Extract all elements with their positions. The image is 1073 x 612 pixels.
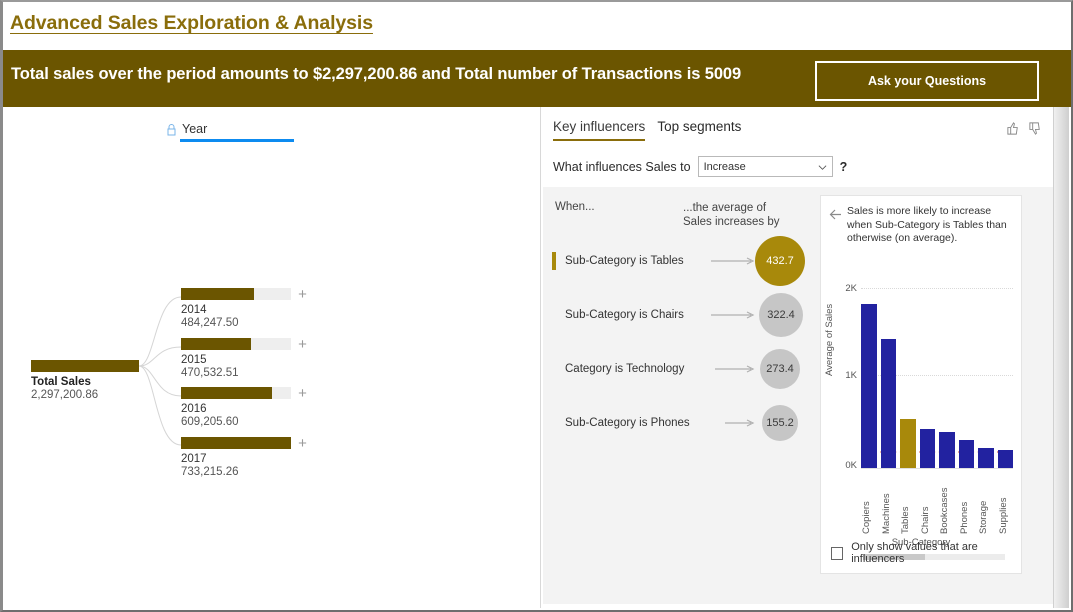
chart-category-labels: CopiersMachinesTablesChairsBookcasesPhon… (861, 470, 1013, 534)
tree-node-bar (181, 387, 291, 399)
tree-node-label: 2014 (181, 304, 291, 317)
ki-direction-select[interactable]: Increase (698, 156, 833, 177)
chart-bar[interactable] (959, 440, 975, 468)
tree-node-value: 733,215.26 (181, 466, 291, 479)
influencer-bubble[interactable]: 432.7 (755, 236, 805, 286)
tree-root-node[interactable]: Total Sales 2,297,200.86 (31, 360, 139, 402)
ki-question-row: What influences Sales to Increase ? (553, 156, 847, 177)
tree-root-value: 2,297,200.86 (31, 389, 139, 402)
influencer-bar-chart: Average of Sales 2K 1K 0K CopiersMachine… (821, 288, 1021, 573)
tree-node-label: 2015 (181, 354, 291, 367)
tree-node-label: 2016 (181, 403, 291, 416)
chart-bar[interactable] (978, 448, 994, 468)
chart-y-tick: 0K (835, 460, 857, 471)
chart-category-label: Machines (881, 470, 897, 534)
tree-node-value: 609,205.60 (181, 416, 291, 429)
tree-node-bar (181, 288, 291, 300)
chart-y-tick: 2K (835, 283, 857, 294)
thumbs-down-icon[interactable] (1028, 121, 1043, 136)
influencer-selected-marker (552, 252, 556, 270)
ki-direction-value: Increase (704, 161, 746, 173)
arrow-right-icon (725, 418, 759, 428)
arrow-right-icon (715, 364, 759, 374)
ask-your-questions-button[interactable]: Ask your Questions (815, 61, 1039, 101)
influencer-label: Sub-Category is Chairs (565, 309, 684, 321)
chart-category-label: Supplies (998, 470, 1014, 534)
tab-key-influencers[interactable]: Key influencers (553, 119, 645, 141)
chart-y-tick: 1K (835, 370, 857, 381)
influencer-label: Sub-Category is Phones (565, 417, 690, 429)
influencer-bubble[interactable]: 273.4 (760, 349, 800, 389)
report-page: Advanced Sales Exploration & Analysis To… (0, 0, 1073, 612)
ki-tab-bar: Key influencers Top segments (553, 119, 741, 141)
chart-bar[interactable] (939, 432, 955, 468)
ki-column-average: ...the average of Sales increases by (683, 201, 793, 229)
tree-node-bar (181, 338, 291, 350)
ki-column-when: When... (555, 201, 595, 213)
chart-bars-group (861, 288, 1013, 468)
chart-category-label: Copiers (861, 470, 877, 534)
tree-expand-button-2015[interactable]: + (296, 339, 309, 352)
tree-node-2015[interactable]: 2015 470,532.51 (181, 338, 291, 380)
only-influencers-checkbox-row[interactable]: Only show values that are influencers (831, 541, 1021, 565)
key-influencers-visual: Key influencers Top segments What influe… (541, 107, 1071, 610)
thumbs-up-icon[interactable] (1006, 121, 1021, 136)
tree-node-value: 484,247.50 (181, 317, 291, 330)
tree-node-bar-fill (181, 387, 272, 399)
chart-category-label: Tables (900, 470, 916, 534)
tree-expand-button-2016[interactable]: + (296, 388, 309, 401)
tree-node-2017[interactable]: 2017 733,215.26 (181, 437, 291, 479)
only-influencers-label: Only show values that are influencers (851, 541, 1021, 565)
influencer-detail-text: Sales is more likely to increase when Su… (847, 205, 1013, 246)
influencer-label: Sub-Category is Tables (565, 255, 684, 267)
chart-bar[interactable] (861, 304, 877, 468)
chart-category-label: Chairs (920, 470, 936, 534)
only-influencers-checkbox[interactable] (831, 547, 843, 560)
tree-node-bar-fill (181, 437, 291, 449)
tree-node-value: 470,532.51 (181, 367, 291, 380)
influencer-row-chairs[interactable]: Sub-Category is Chairs 322.4 (543, 288, 811, 342)
feedback-icons (1006, 121, 1043, 136)
ki-content-area: When... ...the average of Sales increase… (543, 187, 1053, 604)
chart-bar[interactable] (900, 419, 916, 468)
arrow-right-icon (711, 310, 759, 320)
influencer-row-tables[interactable]: Sub-Category is Tables 432.7 (543, 234, 811, 288)
chart-x-axis (861, 468, 1013, 469)
tab-top-segments[interactable]: Top segments (657, 119, 741, 141)
decomposition-tree: Year Total Sales 2,297,200.86 2014 484,2… (3, 107, 540, 610)
tree-node-bar-fill (181, 338, 251, 350)
chart-bar[interactable] (998, 450, 1014, 468)
page-vertical-scrollbar[interactable] (1053, 107, 1069, 608)
chart-y-axis-title: Average of Sales (824, 304, 835, 376)
influencer-detail-card: Sales is more likely to increase when Su… (820, 195, 1022, 574)
page-title: Advanced Sales Exploration & Analysis (10, 12, 373, 35)
tree-root-label: Total Sales (31, 376, 139, 389)
chevron-down-icon (818, 163, 827, 172)
tree-expand-button-2017[interactable]: + (296, 438, 309, 451)
ki-question-label: What influences Sales to (553, 160, 691, 174)
tree-node-2016[interactable]: 2016 609,205.60 (181, 387, 291, 429)
lock-icon (166, 123, 177, 136)
tree-expand-button-2014[interactable]: + (296, 289, 309, 302)
chart-bar[interactable] (881, 339, 897, 468)
back-arrow-icon[interactable] (829, 208, 842, 221)
chart-category-label: Phones (959, 470, 975, 534)
help-icon[interactable]: ? (840, 160, 848, 174)
tree-node-bar (181, 437, 291, 449)
tree-node-label: 2017 (181, 453, 291, 466)
influencer-row-phones[interactable]: Sub-Category is Phones 155.2 (543, 396, 811, 450)
tree-level-header[interactable]: Year (166, 122, 294, 142)
arrow-right-icon (711, 256, 759, 266)
chart-category-label: Bookcases (939, 470, 955, 534)
tree-node-2014[interactable]: 2014 484,247.50 (181, 288, 291, 330)
tree-level-label: Year (182, 122, 207, 136)
kpi-summary-text: Total sales over the period amounts to $… (11, 65, 741, 84)
influencer-bubble[interactable]: 155.2 (762, 405, 798, 441)
influencer-row-technology[interactable]: Category is Technology 273.4 (543, 342, 811, 396)
tree-level-underline (180, 139, 294, 142)
title-bar: Advanced Sales Exploration & Analysis (3, 2, 1071, 50)
tree-root-bar (31, 360, 139, 372)
influencer-bubble[interactable]: 322.4 (759, 293, 803, 337)
chart-bar[interactable] (920, 429, 936, 468)
influencer-label: Category is Technology (565, 363, 684, 375)
tree-node-bar-fill (181, 288, 254, 300)
chart-category-label: Storage (978, 470, 994, 534)
